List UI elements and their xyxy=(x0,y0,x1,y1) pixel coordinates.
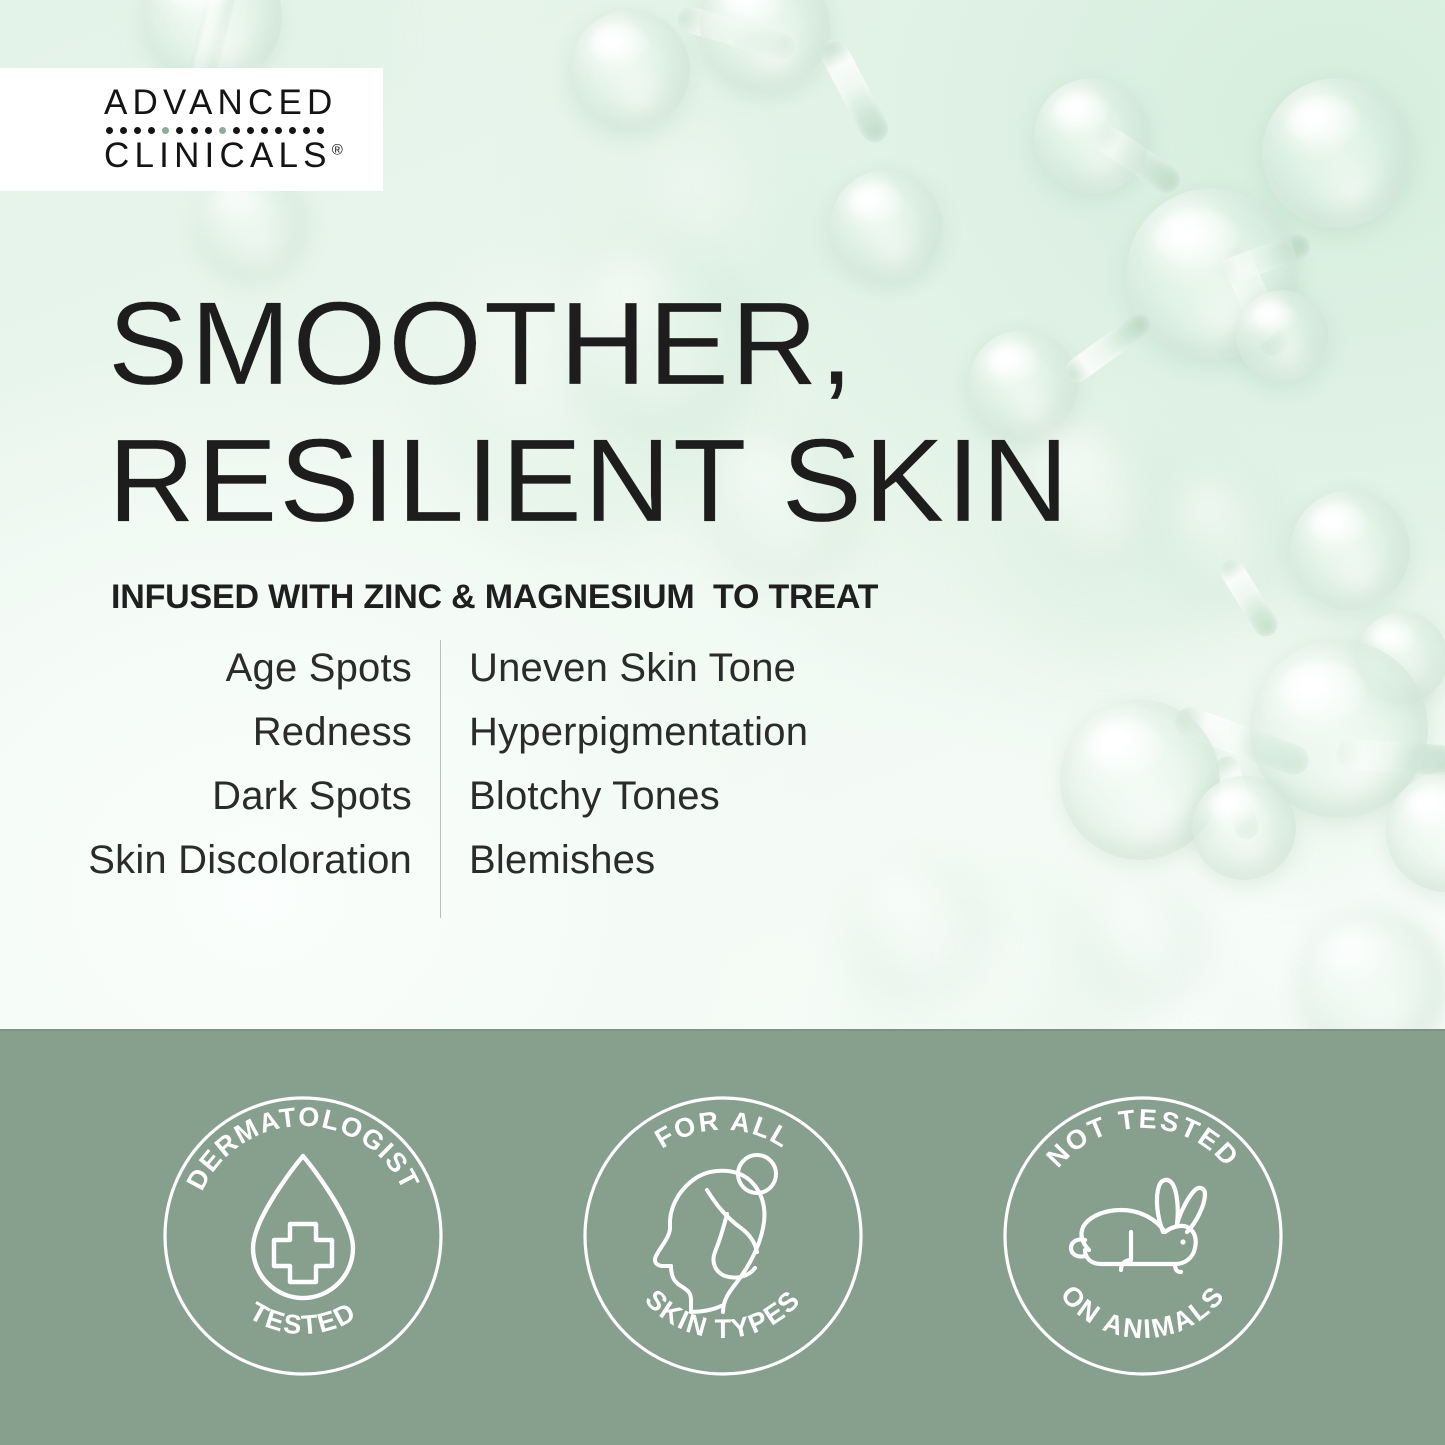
badge-not-tested-on-animals: NOT TESTED ON ANIMALS xyxy=(997,1090,1289,1382)
list-item: Redness xyxy=(253,700,412,764)
droplet-medical-cross-icon xyxy=(253,1156,353,1298)
woman-face-profile-icon xyxy=(654,1155,775,1312)
headline-line-1: SMOOTHER, xyxy=(108,276,1128,413)
badge-top-text: FOR ALL xyxy=(649,1106,796,1155)
footer-band: DERMATOLOGIST TESTED xyxy=(0,1029,1445,1445)
list-item: Dark Spots xyxy=(212,764,412,828)
list-item: Uneven Skin Tone xyxy=(469,636,796,700)
list-item: Hyperpigmentation xyxy=(469,700,808,764)
registered-trademark-icon: ® xyxy=(332,141,343,158)
brand-name-line2: CLINICALS® xyxy=(104,138,383,174)
badge-top-text: NOT TESTED xyxy=(1040,1104,1245,1173)
list-item: Skin Discoloration xyxy=(88,828,412,892)
trust-badges: DERMATOLOGIST TESTED xyxy=(0,1031,1445,1445)
badge-top-text: DERMATOLOGIST xyxy=(180,1102,425,1195)
benefits-list: Age Spots Redness Dark Spots Skin Discol… xyxy=(100,636,961,918)
page-title: SMOOTHER, RESILIENT SKIN xyxy=(108,276,1108,550)
badge-bottom-text: TESTED xyxy=(244,1296,361,1340)
brand-dot-divider xyxy=(106,127,383,134)
list-item: Age Spots xyxy=(226,636,412,700)
list-item: Blemishes xyxy=(469,828,655,892)
subheading: INFUSED WITH ZINC & MAGNESIUM TO TREAT xyxy=(111,578,878,617)
product-marketing-image: ADVANCED CLINICALS® SMOOTHER, RESILIENT … xyxy=(0,0,1445,1445)
badge-bottom-text: ON ANIMALS xyxy=(1054,1279,1230,1344)
benefits-left-column: Age Spots Redness Dark Spots Skin Discol… xyxy=(100,636,440,918)
rabbit-icon xyxy=(1071,1180,1205,1272)
brand-logo: ADVANCED CLINICALS® xyxy=(0,68,383,191)
brand-name-line2-text: CLINICALS xyxy=(104,136,332,175)
badge-dermatologist-tested: DERMATOLOGIST TESTED xyxy=(157,1090,449,1382)
brand-name-line1: ADVANCED xyxy=(104,85,383,121)
headline-line-2: RESILIENT SKIN xyxy=(108,413,1128,550)
list-item: Blotchy Tones xyxy=(469,764,720,828)
badge-for-all-skin-types: FOR ALL SKIN TYPES xyxy=(577,1090,869,1382)
benefits-right-column: Uneven Skin Tone Hyperpigmentation Blotc… xyxy=(441,636,961,918)
